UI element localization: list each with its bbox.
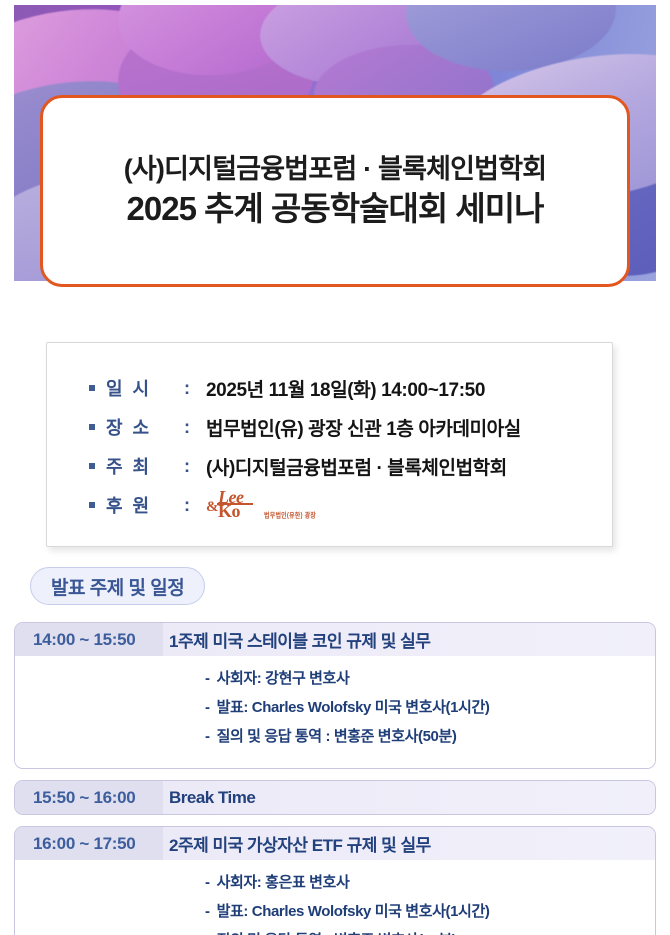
schedule-topic-break: Break Time	[163, 788, 255, 808]
seminar-poster: (사)디지털금융법포럼 · 블록체인법학회 2025 추계 공동학술대회 세미나…	[0, 0, 670, 935]
info-label-date: 일 시	[106, 375, 184, 401]
dash-marker-icon: -	[205, 874, 210, 891]
schedule-header-row: 14:00 ~ 15:50 1주제 미국 스테이블 코인 규제 및 실무	[15, 623, 655, 656]
schedule-topic-session-2: 2주제 미국 가상자산 ETF 규제 및 실무	[163, 831, 431, 856]
info-colon: :	[184, 378, 190, 399]
schedule-detail-item: - 발표: Charles Wolofsky 미국 변호사(1시간)	[15, 696, 655, 725]
schedule-block-break: 15:50 ~ 16:00 Break Time	[14, 780, 656, 815]
schedule-list: 14:00 ~ 15:50 1주제 미국 스테이블 코인 규제 및 실무 - 사…	[14, 622, 656, 935]
schedule-time-break: 15:50 ~ 16:00	[15, 788, 163, 808]
schedule-detail-item: - 발표: Charles Wolofsky 미국 변호사(1시간)	[15, 900, 655, 929]
schedule-detail-text: 질의 및 응답 통역 : 변홍준 변호사(50분)	[217, 725, 457, 746]
square-bullet-icon	[89, 502, 95, 508]
info-colon: :	[184, 495, 190, 516]
info-label-sponsor: 후 원	[106, 492, 184, 518]
schedule-body-session-2: - 사회자: 홍은표 변호사 - 발표: Charles Wolofsky 미국…	[15, 860, 655, 935]
schedule-detail-item: - 사회자: 홍은표 변호사	[15, 871, 655, 900]
dash-marker-icon: -	[205, 670, 210, 687]
schedule-detail-text: 발표: Charles Wolofsky 미국 변호사(1시간)	[217, 696, 490, 717]
event-info-box: 일 시 : 2025년 11월 18일(화) 14:00~17:50 장 소 :…	[46, 342, 613, 547]
section-header-schedule: 발표 주제 및 일정	[30, 567, 205, 605]
dash-marker-icon: -	[205, 699, 210, 716]
info-value-host: (사)디지털금융법포럼 · 블록체인법학회	[206, 453, 507, 480]
dash-marker-icon: -	[205, 728, 210, 745]
event-title: 2025 추계 공동학술대회 세미나	[127, 189, 544, 229]
schedule-detail-text: 발표: Charles Wolofsky 미국 변호사(1시간)	[217, 900, 490, 921]
schedule-block-session-2: 16:00 ~ 17:50 2주제 미국 가상자산 ETF 규제 및 실무 - …	[14, 826, 656, 935]
schedule-header-row: 15:50 ~ 16:00 Break Time	[15, 781, 655, 814]
info-label-host: 주 최	[106, 453, 184, 479]
schedule-detail-item: - 질의 및 응답 통역 : 변홍준 변호사(50분)	[15, 929, 655, 935]
sponsor-logo-lee-and-ko: Lee & Ko 법무법인(유한) 광장	[206, 488, 316, 522]
logo-subtitle: 법무법인(유한) 광장	[264, 509, 316, 519]
square-bullet-icon	[89, 385, 95, 391]
info-colon: :	[184, 456, 190, 477]
schedule-detail-item: - 사회자: 강현구 변호사	[15, 667, 655, 696]
schedule-time-session-2: 16:00 ~ 17:50	[15, 834, 163, 854]
organizer-title: (사)디지털금융법포럼 · 블록체인법학회	[124, 154, 547, 185]
logo-text-ampersand: &	[206, 499, 219, 516]
schedule-topic-session-1: 1주제 미국 스테이블 코인 규제 및 실무	[163, 627, 430, 652]
info-row-date: 일 시 : 2025년 11월 18일(화) 14:00~17:50	[89, 369, 612, 407]
title-card: (사)디지털금융법포럼 · 블록체인법학회 2025 추계 공동학술대회 세미나	[40, 95, 630, 287]
info-value-date: 2025년 11월 18일(화) 14:00~17:50	[206, 375, 485, 402]
square-bullet-icon	[89, 463, 95, 469]
info-colon: :	[184, 417, 190, 438]
square-bullet-icon	[89, 424, 95, 430]
info-row-sponsor: 후 원 : Lee & Ko 법무법인(유한) 광장	[89, 486, 612, 524]
schedule-header-row: 16:00 ~ 17:50 2주제 미국 가상자산 ETF 규제 및 실무	[15, 827, 655, 860]
info-row-venue: 장 소 : 법무법인(유) 광장 신관 1층 아카데미아실	[89, 408, 612, 446]
schedule-body-session-1: - 사회자: 강현구 변호사 - 발표: Charles Wolofsky 미국…	[15, 656, 655, 768]
schedule-detail-item: - 질의 및 응답 통역 : 변홍준 변호사(50분)	[15, 725, 655, 754]
info-row-host: 주 최 : (사)디지털금융법포럼 · 블록체인법학회	[89, 447, 612, 485]
schedule-detail-text: 사회자: 홍은표 변호사	[217, 871, 350, 892]
info-value-venue: 법무법인(유) 광장 신관 1층 아카데미아실	[206, 414, 521, 441]
lee-and-ko-mark-icon: Lee & Ko	[206, 488, 260, 522]
info-label-venue: 장 소	[106, 414, 184, 440]
schedule-time-session-1: 14:00 ~ 15:50	[15, 630, 163, 650]
logo-text-ko: Ko	[218, 501, 240, 522]
schedule-detail-text: 사회자: 강현구 변호사	[217, 667, 350, 688]
dash-marker-icon: -	[205, 903, 210, 920]
schedule-block-session-1: 14:00 ~ 15:50 1주제 미국 스테이블 코인 규제 및 실무 - 사…	[14, 622, 656, 769]
schedule-detail-text: 질의 및 응답 통역 : 변홍준 변호사(50분)	[217, 929, 457, 935]
